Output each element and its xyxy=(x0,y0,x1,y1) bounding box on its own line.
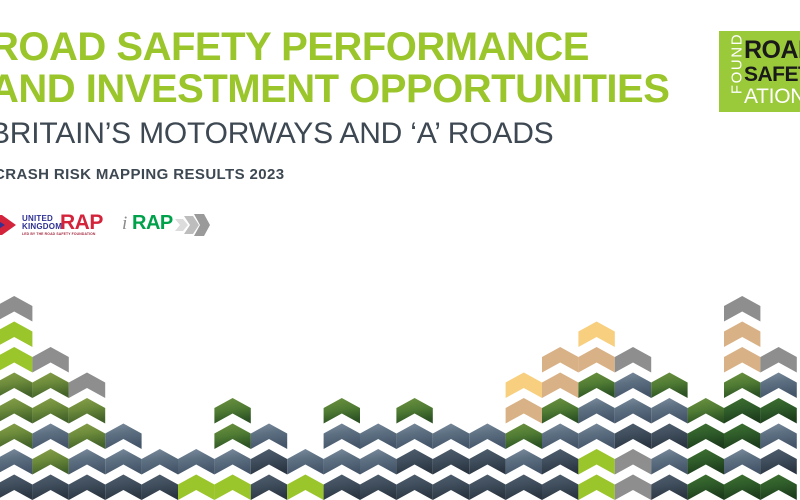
chevron-cell xyxy=(324,424,360,450)
chevron-cell xyxy=(506,449,542,475)
chevron-cell xyxy=(578,424,614,450)
chevron-cell xyxy=(724,296,760,322)
ukrap-line-2: KINGDOM xyxy=(22,222,62,231)
chevron-cell xyxy=(578,373,614,399)
chevron-cell xyxy=(542,475,578,500)
chevron-cell xyxy=(651,449,687,475)
chevron-cell xyxy=(760,373,796,399)
chevron-cell xyxy=(32,424,68,450)
chevron-cell xyxy=(324,475,360,500)
ukrap-wordmark: RAP xyxy=(60,212,103,233)
chevron-cell xyxy=(724,347,760,373)
chevron-cell xyxy=(688,398,724,424)
irap-logo: i RAP xyxy=(122,206,208,244)
chevron-cell xyxy=(251,475,287,500)
chevron-cell xyxy=(542,449,578,475)
chevron-cell xyxy=(542,398,578,424)
chevron-cell xyxy=(615,373,651,399)
chevron-cell xyxy=(287,475,323,500)
chevron-cell xyxy=(360,475,396,500)
road-safety-foundation-logo: FOUND ROAD SAFETY ATION xyxy=(719,31,800,112)
chevron-cell xyxy=(0,322,32,348)
irap-wordmark: RAP xyxy=(132,213,173,233)
chevron-cell xyxy=(651,398,687,424)
chevron-cell xyxy=(178,475,214,500)
chevron-cell xyxy=(724,449,760,475)
chevron-cell xyxy=(506,398,542,424)
cover-subtitle: BRITAIN’S MOTORWAYS AND ‘A’ ROADS xyxy=(0,116,670,152)
rsf-logo-line-2: SAFETY xyxy=(744,64,800,85)
report-cover: ROAD SAFETY PERFORMANCE AND INVESTMENT O… xyxy=(0,0,800,500)
chevron-cell xyxy=(142,475,178,500)
report-label: CRASH RISK MAPPING RESULTS 2023 xyxy=(0,166,285,183)
chevron-cell xyxy=(506,373,542,399)
chevron-cell xyxy=(69,373,105,399)
chevron-cell xyxy=(32,475,68,500)
chevron-cell xyxy=(651,424,687,450)
chevron-cell xyxy=(615,449,651,475)
chevron-cell xyxy=(469,475,505,500)
chevron-cell xyxy=(615,398,651,424)
title-line-1: ROAD SAFETY PERFORMANCE xyxy=(0,26,670,68)
chevron-cell xyxy=(0,424,32,450)
rsf-logo-line-3: ATION xyxy=(744,86,800,107)
chevron-cell xyxy=(396,475,432,500)
chevron-cell xyxy=(69,424,105,450)
chevron-cell xyxy=(32,398,68,424)
rsf-logo-line-1: ROAD xyxy=(744,38,800,63)
chevron-cell xyxy=(724,475,760,500)
chevron-cell xyxy=(396,424,432,450)
chevron-cell xyxy=(578,347,614,373)
chevron-cell xyxy=(142,449,178,475)
chevron-cell xyxy=(615,424,651,450)
chevron-cell xyxy=(0,398,32,424)
chevron-cell xyxy=(688,475,724,500)
title-line-2: AND INVESTMENT OPPORTUNITIES xyxy=(0,68,670,110)
chevron-cell xyxy=(32,373,68,399)
chevron-cell xyxy=(506,424,542,450)
chevron-cell xyxy=(324,398,360,424)
chevron-cell xyxy=(542,373,578,399)
title-block: ROAD SAFETY PERFORMANCE AND INVESTMENT O… xyxy=(0,26,670,152)
chevron-cell xyxy=(360,424,396,450)
chevron-cell xyxy=(105,475,141,500)
chevron-cell xyxy=(32,449,68,475)
irap-swoosh-icon xyxy=(174,214,210,236)
chevron-cell xyxy=(433,449,469,475)
chevron-cell xyxy=(433,475,469,500)
chevron-cell xyxy=(0,449,32,475)
chevron-cell xyxy=(578,398,614,424)
chevron-cell xyxy=(760,347,796,373)
chevron-cell xyxy=(542,424,578,450)
chevron-cell xyxy=(360,449,396,475)
chevron-cell xyxy=(469,449,505,475)
chevron-cell xyxy=(0,373,32,399)
chevron-cell xyxy=(760,398,796,424)
chevron-cell xyxy=(724,424,760,450)
chevron-cell xyxy=(542,347,578,373)
chevron-cell xyxy=(724,322,760,348)
chevron-cell xyxy=(105,449,141,475)
chevron-cell xyxy=(724,398,760,424)
chevron-cell xyxy=(651,373,687,399)
chevron-cell xyxy=(214,475,250,500)
chevron-cell xyxy=(251,424,287,450)
chevron-cell xyxy=(69,398,105,424)
chevron-cell xyxy=(688,449,724,475)
chevron-cell xyxy=(69,449,105,475)
chevron-cell xyxy=(760,449,796,475)
chevron-cell xyxy=(69,475,105,500)
chevron-cell xyxy=(214,449,250,475)
ukrap-swoosh-icon xyxy=(0,215,20,235)
chevron-cell xyxy=(433,424,469,450)
chevron-cell xyxy=(651,475,687,500)
ukrap-logo: UNITED KINGDOM LED BY THE ROAD SAFETY FO… xyxy=(0,206,106,244)
chevron-cell xyxy=(578,322,614,348)
chevron-cell xyxy=(615,347,651,373)
chevron-cell xyxy=(506,475,542,500)
chevron-cell xyxy=(724,373,760,399)
irap-prefix: i xyxy=(122,214,127,233)
chevron-cell xyxy=(251,449,287,475)
chevron-cell xyxy=(0,296,32,322)
chevron-cell xyxy=(396,449,432,475)
chevron-cell xyxy=(578,449,614,475)
chevron-cell xyxy=(396,398,432,424)
chevron-cell xyxy=(688,424,724,450)
chevron-cell xyxy=(105,424,141,450)
chevron-cell xyxy=(578,475,614,500)
chevron-cell xyxy=(469,424,505,450)
chevron-cell xyxy=(214,398,250,424)
chevron-cell xyxy=(324,449,360,475)
chevron-cell xyxy=(0,347,32,373)
chevron-cell xyxy=(760,475,796,500)
chevron-cell xyxy=(287,449,323,475)
chevron-cell xyxy=(615,475,651,500)
chevron-cell xyxy=(32,347,68,373)
chevron-cell xyxy=(214,424,250,450)
rsf-logo-vertical-word: FOUND xyxy=(729,32,746,96)
chevron-cell xyxy=(178,449,214,475)
chevron-cell xyxy=(760,424,796,450)
chevron-cell xyxy=(0,475,32,500)
